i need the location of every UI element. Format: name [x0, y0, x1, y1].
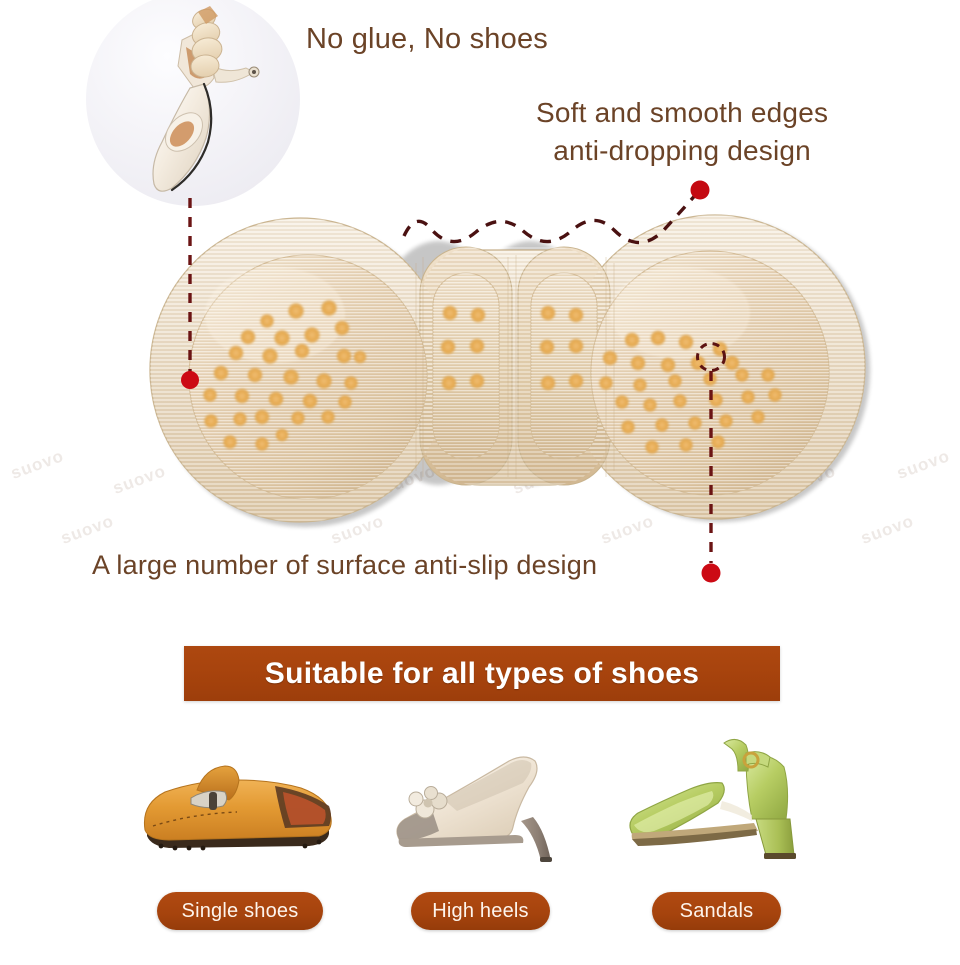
shoe-photo-sandals — [618, 727, 823, 869]
shoe-photo-high-heels — [383, 735, 588, 867]
pill-label: Single shoes — [182, 900, 299, 923]
banner-title: Suitable for all types of shoes — [265, 657, 699, 691]
shoe-type-pill-single-shoes[interactable]: Single shoes — [157, 892, 323, 930]
watermark-text: suovo — [58, 511, 117, 549]
pill-label: Sandals — [680, 900, 754, 923]
shoe-type-pill-sandals[interactable]: Sandals — [652, 892, 781, 930]
shoe-photo-single-shoes — [133, 742, 348, 867]
watermark-text: suovo — [8, 446, 67, 484]
annotation-no-glue: No glue, No shoes — [306, 23, 548, 56]
annotation-soft-edges-line2: anti-dropping design — [536, 132, 828, 170]
pill-label: High heels — [432, 900, 529, 923]
callout-dot-anti-slip — [702, 564, 721, 583]
loafer-illustration — [133, 742, 348, 867]
pad-stack-illustration — [189, 5, 224, 78]
pad-cushion-mid-1 — [433, 273, 499, 459]
pad-cushion-mid-2 — [531, 273, 597, 459]
annotation-soft-edges-line1: Soft and smooth edges — [536, 97, 828, 128]
inset-shoe-photo — [86, 0, 300, 206]
annotation-anti-slip: A large number of surface anti-slip desi… — [92, 550, 597, 581]
suitable-banner: Suitable for all types of shoes — [184, 646, 780, 701]
annotation-soft-edges: Soft and smooth edges anti-dropping desi… — [536, 94, 828, 170]
infographic-canvas: suovo suovo suovo suovo suovo suovo suov… — [0, 0, 960, 960]
pump-illustration — [383, 735, 588, 867]
stiletto-heel-illustration — [86, 0, 300, 206]
sandal-illustration — [618, 727, 823, 869]
shoe-type-pill-high-heels[interactable]: High heels — [411, 892, 550, 930]
heel-pad-product-image — [120, 195, 910, 545]
heel-pad-svg — [120, 195, 910, 545]
